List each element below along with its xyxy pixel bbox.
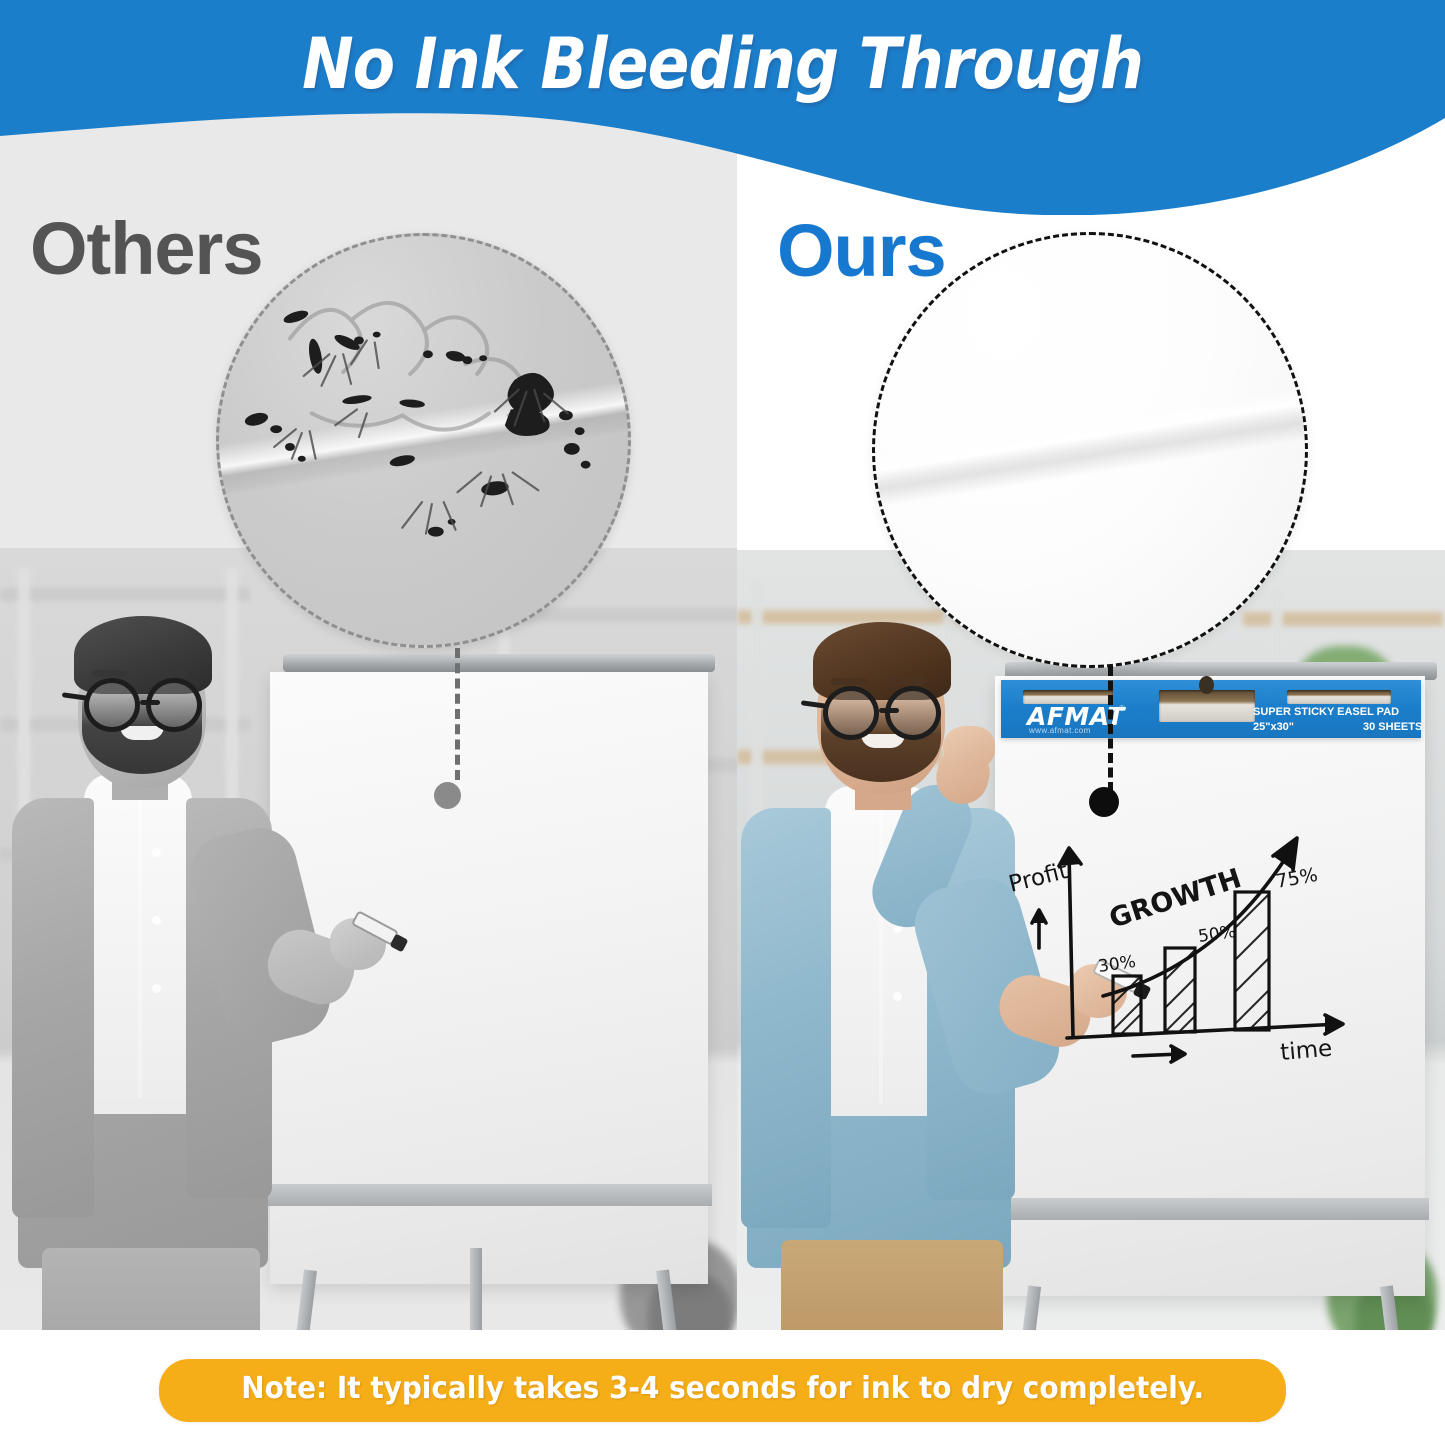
comparison-panels: $ [0, 0, 1445, 1330]
panel-others: $ [0, 0, 737, 1330]
pad-product-name: SUPER STICKY EASEL PAD [1253, 706, 1399, 718]
pad-header-banner: AFMAT ® www.afmat.com SUPER STICKY EASEL… [1001, 680, 1421, 738]
product-comparison-image: $ [0, 0, 1445, 1430]
zoom-circle-ours [872, 232, 1308, 668]
glasses-icon [885, 686, 941, 740]
glasses-icon [823, 686, 879, 740]
photo-others: $ [0, 548, 737, 1330]
pad-sheet-count: 30 SHEETS [1363, 721, 1422, 733]
ink-bleed-marks [219, 236, 628, 645]
bar-label-1: 30% [1097, 952, 1137, 977]
note-banner-wrap: Note: It typically takes 3-4 seconds for… [0, 1330, 1445, 1430]
paper-fold-ours [872, 378, 1308, 513]
bar-label-2: 50% [1197, 922, 1237, 947]
zoom-circle-others [216, 233, 631, 648]
registered-mark-icon: ® [1119, 704, 1125, 713]
afmat-url: www.afmat.com [1029, 726, 1091, 735]
glasses-icon [146, 678, 202, 732]
x-axis-label: time [1279, 1036, 1333, 1066]
paper-fold-others [216, 371, 631, 502]
y-axis-label: Profit [1006, 858, 1071, 898]
growth-chart-doodle: Profit GROWTH 30% 50% 75% time [1005, 808, 1365, 1068]
glasses-icon [84, 678, 140, 732]
pad-size: 25"x30" [1253, 721, 1294, 733]
label-others: Others [30, 210, 263, 288]
label-ours: Ours [777, 212, 946, 290]
page-title: No Ink Bleeding Through [87, 24, 1359, 104]
note-text: Note: It typically takes 3-4 seconds for… [241, 1372, 1204, 1406]
note-banner: Note: It typically takes 3-4 seconds for… [159, 1359, 1286, 1422]
